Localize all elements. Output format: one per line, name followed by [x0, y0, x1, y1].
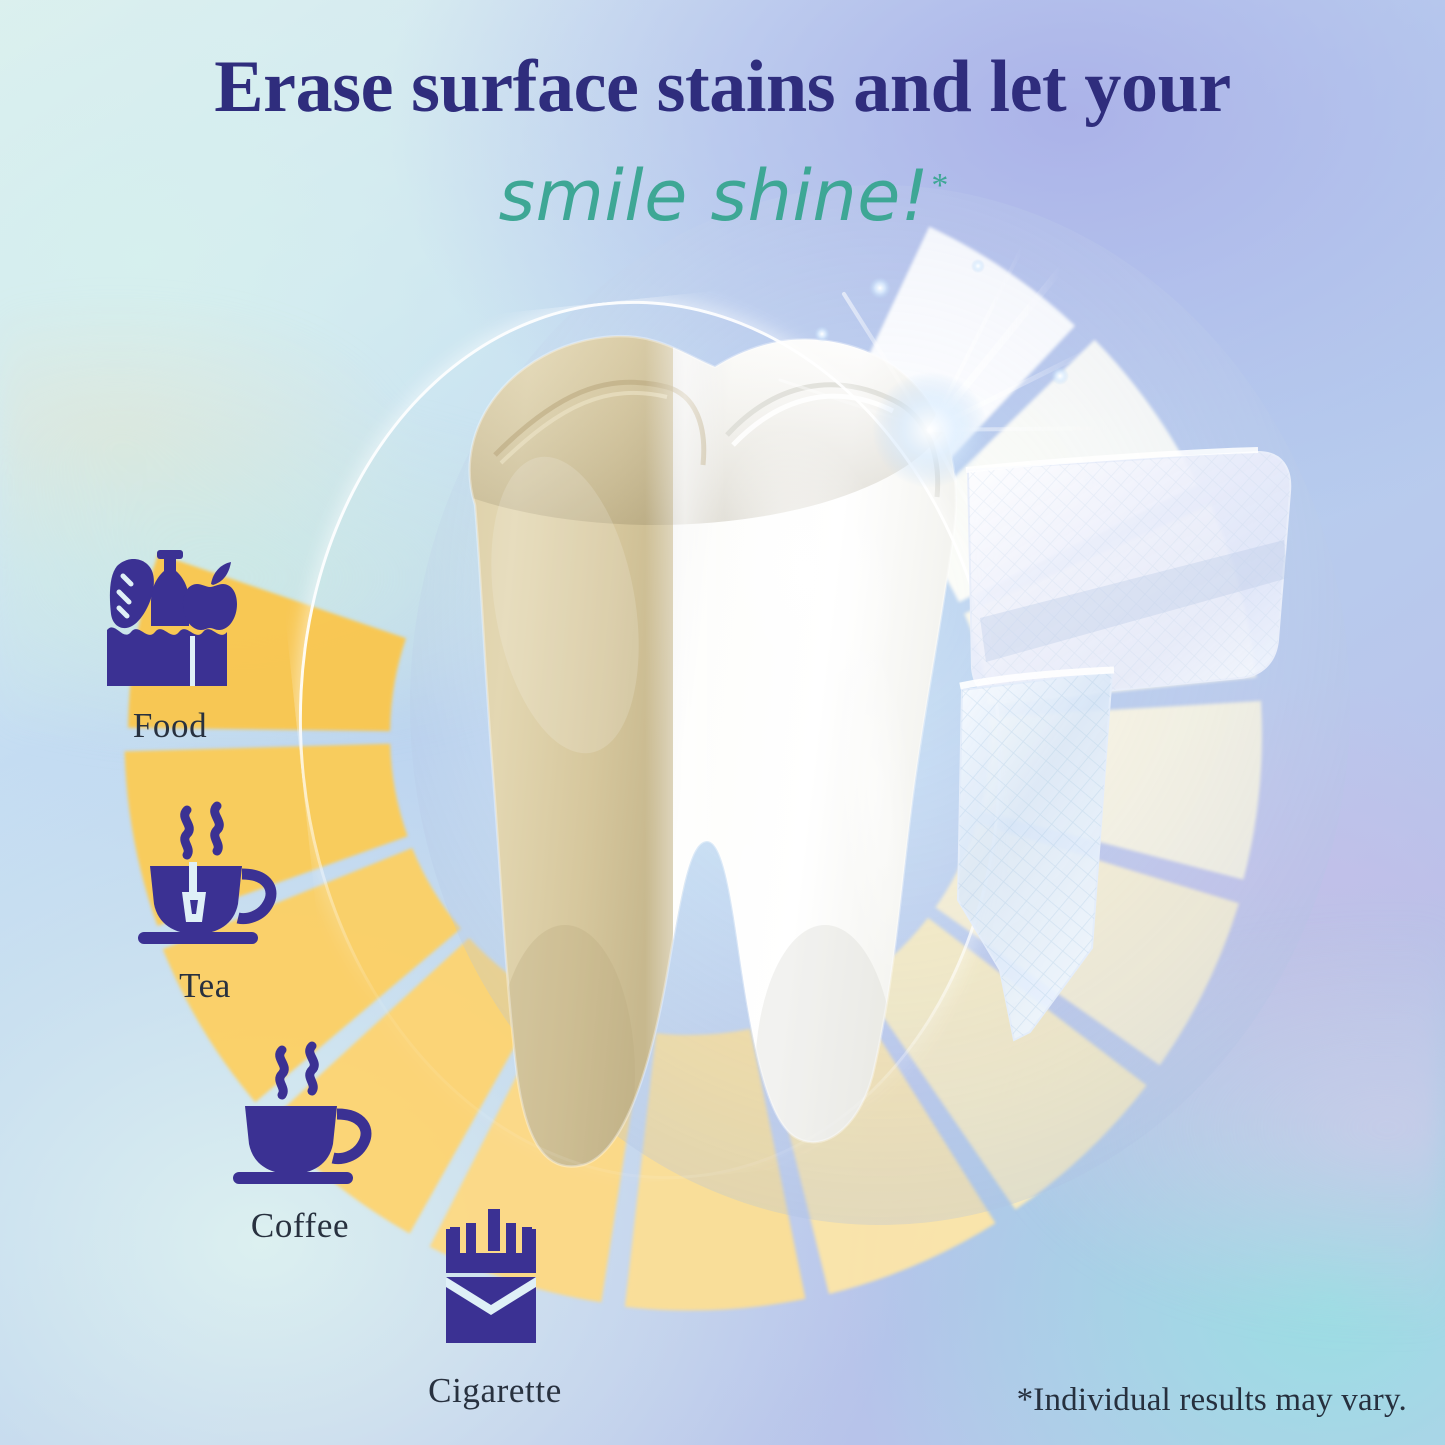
- headline-secondary-text: smile shine!: [499, 155, 930, 237]
- stain-source-label: Cigarette: [385, 1371, 605, 1411]
- stain-source-food: Food: [60, 540, 280, 746]
- stain-source-tea: Tea: [105, 800, 305, 1006]
- stain-source-label: Food: [60, 706, 280, 746]
- grocery-bag-icon: [95, 540, 245, 690]
- headline-asterisk: *: [931, 167, 948, 204]
- stain-source-coffee: Coffee: [195, 1040, 405, 1246]
- stain-source-label: Coffee: [195, 1206, 405, 1246]
- headline-secondary: smile shine!*: [0, 155, 1445, 237]
- tea-cup-icon: [130, 800, 280, 950]
- cigarette-pack-icon: [420, 1205, 570, 1355]
- footnote-disclaimer: *Individual results may vary.: [1017, 1382, 1407, 1419]
- headline-primary: Erase surface stains and let your: [0, 48, 1445, 126]
- coffee-cup-icon: [225, 1040, 375, 1190]
- stain-source-label: Tea: [105, 966, 305, 1006]
- promo-graphic: Erase surface stains and let your smile …: [0, 0, 1445, 1445]
- stain-source-cigarette: Cigarette: [385, 1205, 605, 1411]
